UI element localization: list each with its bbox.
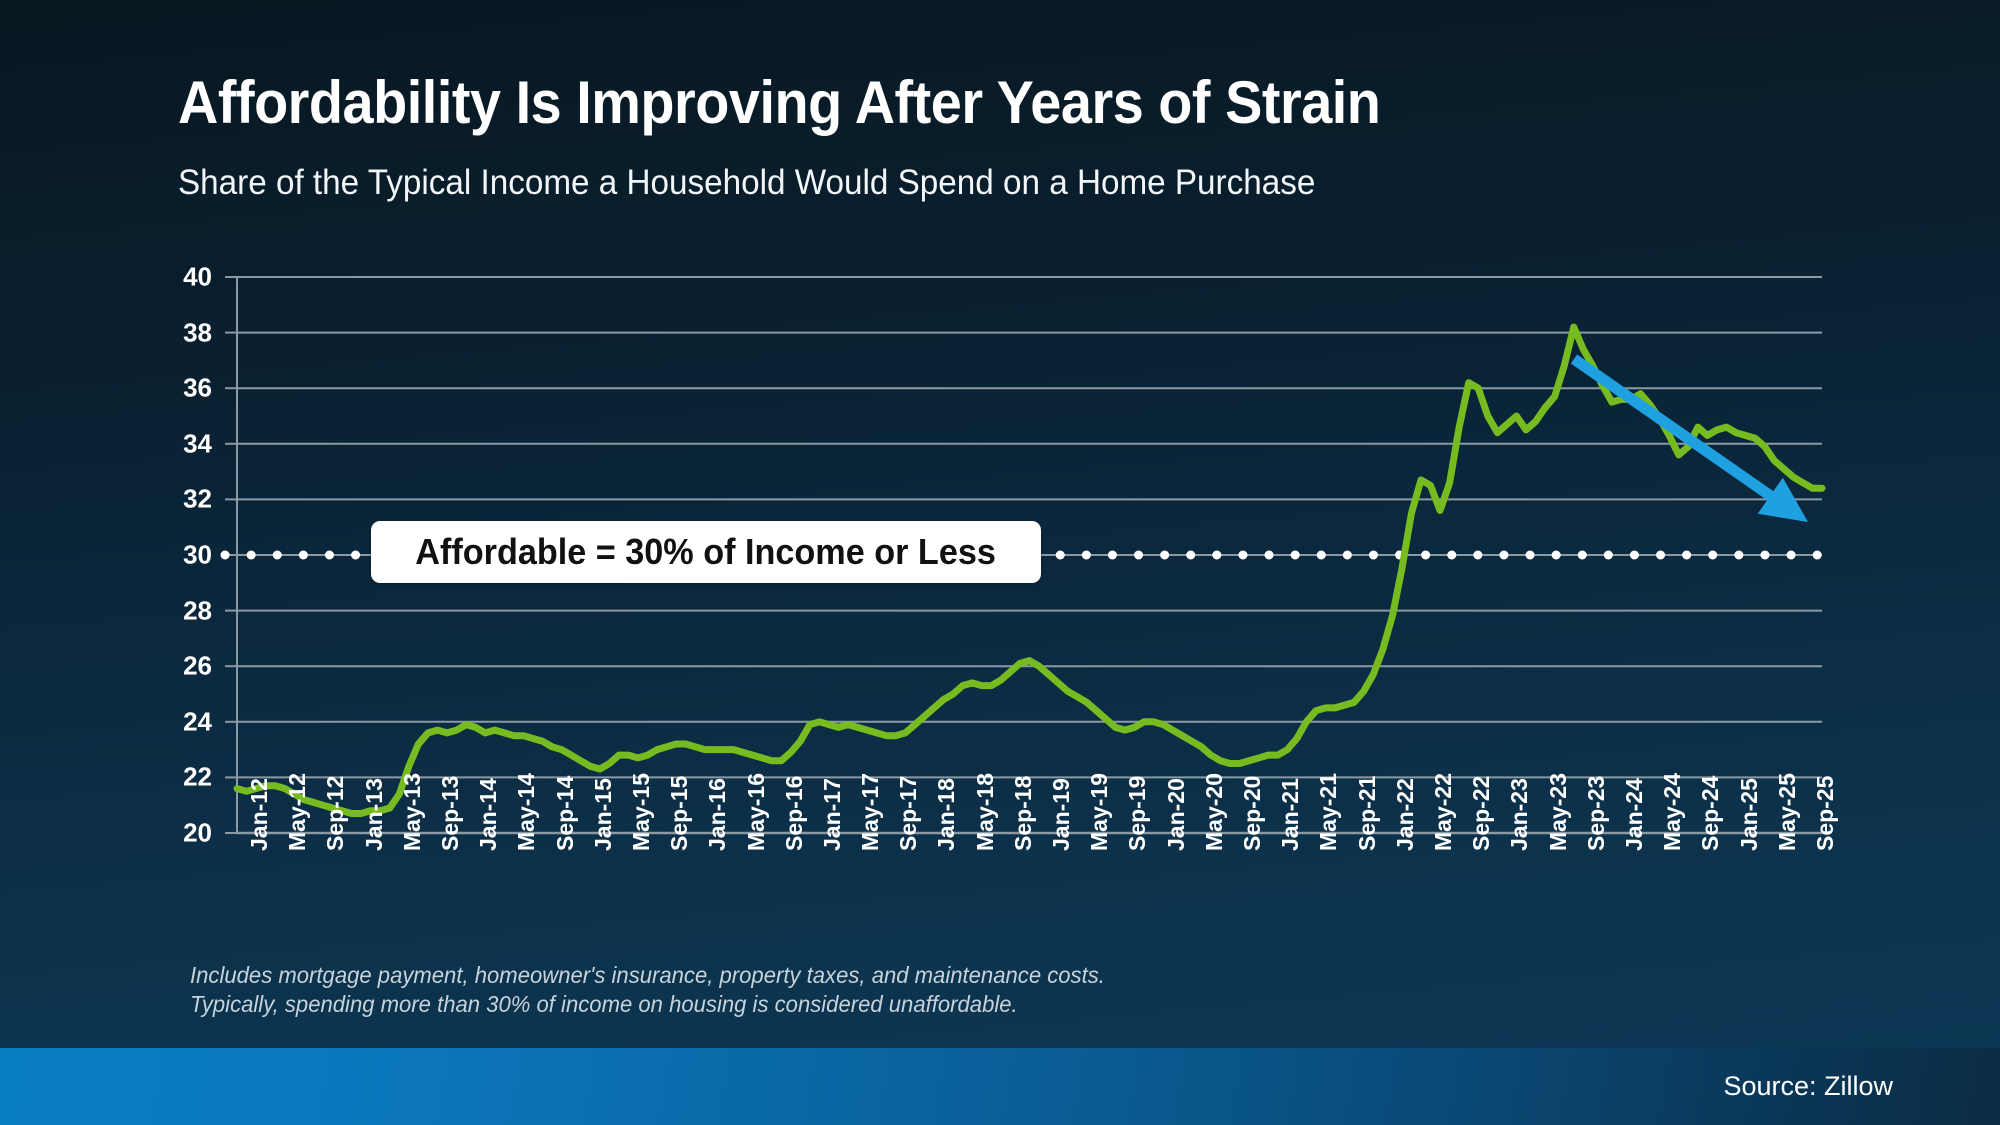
- x-axis-tick-label: Sep-19: [1124, 776, 1151, 851]
- x-axis-tick-label: Sep-14: [552, 776, 579, 851]
- footer-bar: [0, 1048, 2000, 1125]
- x-axis-tick-label: May-23: [1545, 773, 1572, 851]
- x-axis-tick-label: May-14: [513, 773, 540, 851]
- y-axis-tick-label: 34: [152, 428, 212, 459]
- x-axis-tick-label: Sep-20: [1239, 776, 1266, 851]
- x-axis-tick-label: Jan-18: [933, 778, 960, 851]
- x-axis-tick-label: May-24: [1659, 773, 1686, 851]
- y-axis-tick-label: 40: [152, 262, 212, 293]
- y-axis-tick-label: 24: [152, 706, 212, 737]
- x-axis-tick-label: Jan-15: [590, 778, 617, 851]
- x-axis-tick-label: Sep-24: [1697, 776, 1724, 851]
- x-axis-tick-label: Sep-22: [1468, 776, 1495, 851]
- y-axis-tick-label: 32: [152, 484, 212, 515]
- x-axis-tick-label: Jan-17: [819, 778, 846, 851]
- x-axis-tick-label: Sep-13: [437, 776, 464, 851]
- threshold-annotation-label: Affordable = 30% of Income or Less: [416, 531, 997, 573]
- y-axis-tick-label: 20: [152, 818, 212, 849]
- x-axis-tick-label: May-18: [972, 773, 999, 851]
- x-axis-tick-label: May-22: [1430, 773, 1457, 851]
- x-axis-tick-label: Jan-12: [246, 778, 273, 851]
- trend-arrow-shaft: [1574, 359, 1775, 499]
- x-axis-tick-label: Jan-25: [1736, 778, 1763, 851]
- x-axis-tick-label: May-25: [1774, 773, 1801, 851]
- footnote-line-2: Typically, spending more than 30% of inc…: [190, 991, 1018, 1018]
- x-axis-tick-label: Sep-25: [1812, 776, 1839, 851]
- x-axis-tick-label: Sep-23: [1583, 776, 1610, 851]
- x-axis-tick-label: Jan-24: [1621, 778, 1648, 851]
- x-axis-tick-label: May-15: [628, 773, 655, 851]
- chart-slide: Affordability Is Improving After Years o…: [0, 0, 2000, 1125]
- x-axis-tick-label: Sep-18: [1010, 776, 1037, 851]
- x-axis-tick-label: Jan-16: [704, 778, 731, 851]
- x-axis-tick-label: May-21: [1315, 773, 1342, 851]
- y-axis-tick-label: 26: [152, 651, 212, 682]
- footnote-line-1: Includes mortgage payment, homeowner's i…: [190, 962, 1105, 989]
- x-axis-tick-label: May-12: [284, 773, 311, 851]
- x-axis-tick-label: Jan-22: [1392, 778, 1419, 851]
- y-axis-tick-label: 38: [152, 317, 212, 348]
- x-axis-tick-label: Jan-20: [1163, 778, 1190, 851]
- source-attribution: Source: Zillow: [1723, 1071, 1893, 1102]
- x-axis-tick-label: Jan-14: [475, 778, 502, 851]
- x-axis-tick-label: Sep-16: [781, 776, 808, 851]
- y-axis-tick-label: 28: [152, 595, 212, 626]
- x-axis-tick-label: Sep-17: [895, 776, 922, 851]
- x-axis-tick-label: Jan-21: [1277, 778, 1304, 851]
- x-axis-tick-label: May-19: [1086, 773, 1113, 851]
- x-axis-tick-label: Sep-21: [1354, 776, 1381, 851]
- y-axis-tick-label: 36: [152, 373, 212, 404]
- x-axis-tick-label: Jan-13: [361, 778, 388, 851]
- x-axis-tick-label: May-17: [857, 773, 884, 851]
- x-axis-tick-label: May-20: [1201, 773, 1228, 851]
- y-axis-tick-label: 22: [152, 762, 212, 793]
- y-axis-tick-label: 30: [152, 540, 212, 571]
- x-axis-tick-label: May-16: [743, 773, 770, 851]
- x-axis-tick-label: Jan-23: [1506, 778, 1533, 851]
- threshold-annotation-box: Affordable = 30% of Income or Less: [371, 521, 1041, 583]
- x-axis-tick-label: Sep-12: [322, 776, 349, 851]
- x-axis-tick-label: May-13: [399, 773, 426, 851]
- x-axis-tick-label: Jan-19: [1048, 778, 1075, 851]
- x-axis-tick-label: Sep-15: [666, 776, 693, 851]
